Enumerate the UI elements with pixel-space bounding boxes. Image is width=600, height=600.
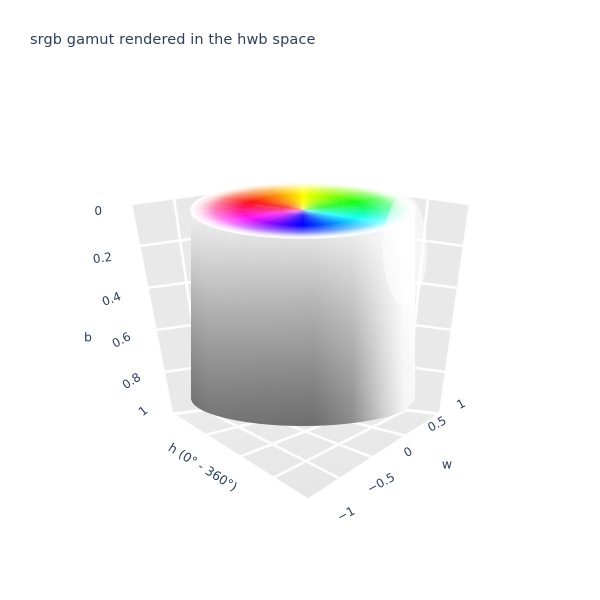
plotly-figure: srgb gamut rendered in the hwb space: [0, 0, 600, 600]
cylinder-body: [191, 210, 415, 426]
cylinder-specular-highlight: [383, 195, 427, 305]
b-tick-0.2: 0.2: [92, 250, 113, 267]
axis-title-b: b: [84, 330, 92, 345]
scene-canvas[interactable]: [0, 0, 600, 600]
b-tick-0: 0: [94, 204, 102, 218]
scene-3d[interactable]: 0 0.2 0.4 0.6 0.8 1 b −1 −0.5 0 0.5 1 w …: [0, 0, 600, 600]
axis-title-w: w: [442, 457, 452, 472]
